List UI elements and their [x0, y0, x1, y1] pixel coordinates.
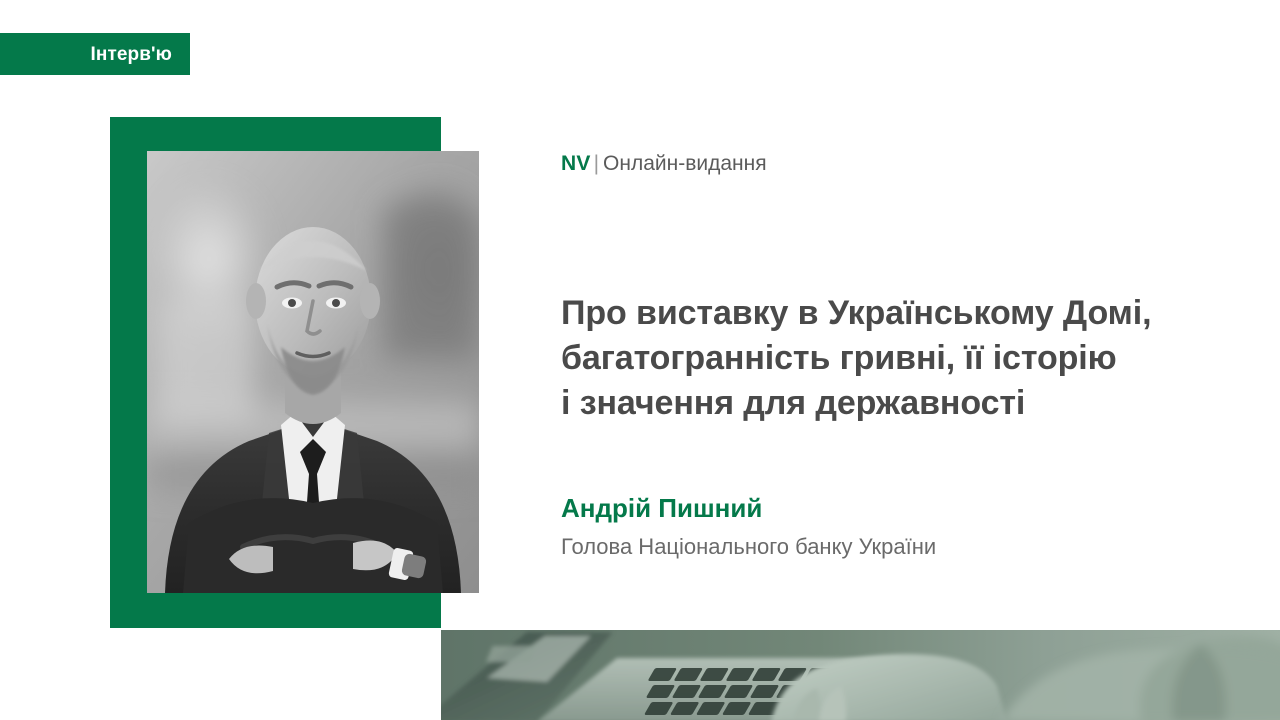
page-title: Про виставку в Українському Домі, багато… — [561, 291, 1251, 426]
source-name: Онлайн-видання — [603, 152, 767, 175]
headline-line-2: багатогранність гривні, її історію — [561, 336, 1251, 381]
speaker-role: Голова Національного банку України — [561, 534, 936, 560]
source-brand: NV — [561, 152, 591, 175]
bottom-decorative-photo — [441, 630, 1280, 720]
category-badge: Інтерв'ю — [0, 33, 190, 75]
portrait-photo — [147, 151, 479, 593]
source-separator: | — [594, 152, 599, 175]
speaker-name: Андрій Пишний — [561, 493, 762, 524]
text-content-column: NV|Онлайн-видання Про виставку в Українс… — [561, 0, 1261, 720]
headline-line-3: і значення для державності — [561, 381, 1251, 426]
headline-line-1: Про виставку в Українському Домі, — [561, 291, 1251, 336]
source-line: NV|Онлайн-видання — [561, 151, 767, 176]
presentation-slide: Інтерв'ю — [0, 0, 1280, 720]
category-badge-label: Інтерв'ю — [91, 45, 172, 64]
